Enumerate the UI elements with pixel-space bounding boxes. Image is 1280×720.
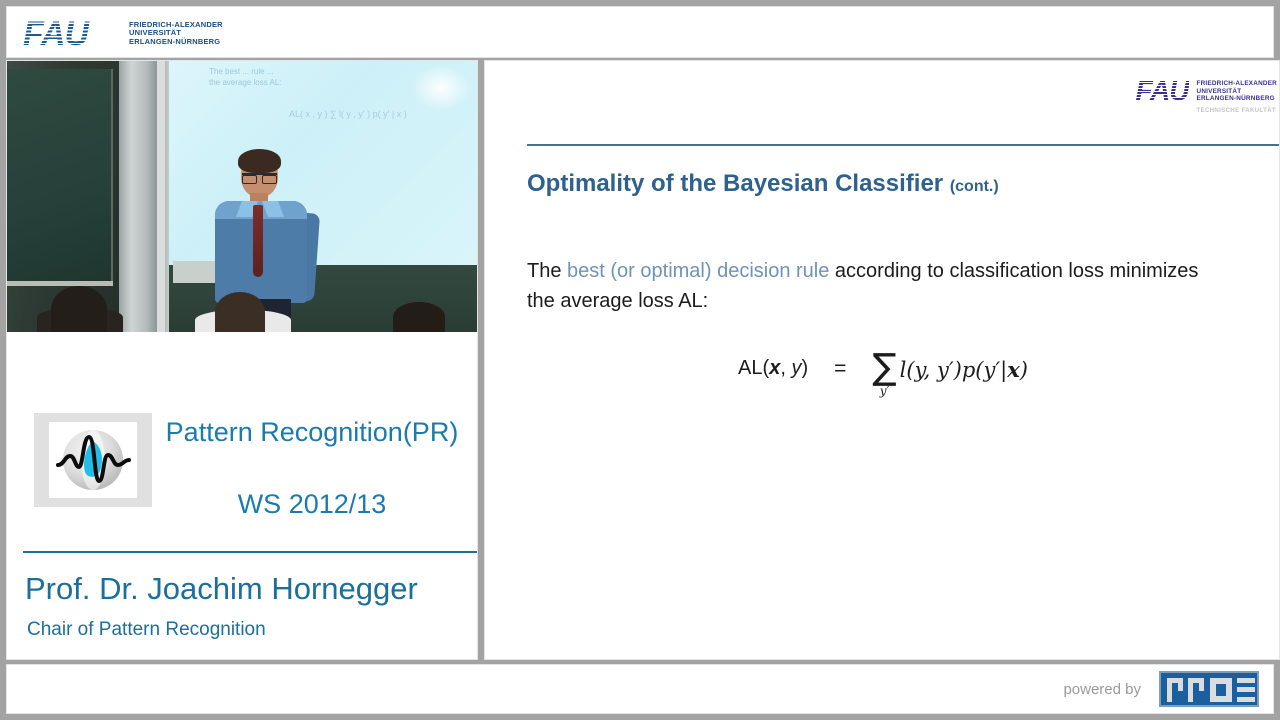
fau-slide-faculty: TECHNISCHE FAKULTÄT [1197, 107, 1278, 116]
audience-head-2 [215, 292, 265, 332]
slide-formula: AL(x, y) = ∑ y′ l(y, y′)p(y′|x) [485, 351, 1280, 398]
video-projected-line-1: The best ... rule ... [209, 66, 282, 77]
slide-body-line-2: the average loss AL: [527, 286, 1280, 316]
powered-by-label: powered by [1063, 681, 1141, 698]
audience-head-1 [51, 286, 107, 332]
video-screen-glare [411, 65, 471, 111]
fau-logo-mark: FAU [23, 17, 119, 51]
formula-rhs-open-1: ( [906, 358, 914, 382]
formula-sum-index: y′ [880, 385, 890, 398]
footer-bar: powered by [6, 664, 1274, 714]
fau-brand-slide: FAU FRIEDRICH-ALEXANDER UNIVERSITÄT ERLA… [1136, 77, 1278, 116]
formula-right-hand-side: l(y, y′)p(y′|x) [900, 351, 1028, 382]
slide-title: Optimality of the Bayesian Classifier (c… [527, 169, 999, 202]
formula-equals: = [834, 351, 846, 381]
video-projected-text: The best ... rule ... the average loss A… [209, 66, 282, 88]
pr-logo-frame [49, 422, 137, 498]
fau-slide-line-1: FRIEDRICH-ALEXANDER [1197, 80, 1278, 88]
formula-arg-comma: , [780, 357, 791, 379]
formula-summation: ∑ y′ [872, 351, 896, 398]
formula-rhs-x: x [1007, 357, 1020, 382]
video-door-frame [157, 61, 165, 332]
fau-slide-line-3: ERLANGEN-NÜRNBERG [1197, 95, 1278, 103]
fau-wordmark-lines-slide: FRIEDRICH-ALEXANDER UNIVERSITÄT ERLANGEN… [1197, 80, 1278, 116]
left-panel: The best ... rule ... the average loss A… [6, 60, 478, 660]
lecture-video[interactable]: The best ... rule ... the average loss A… [7, 61, 477, 332]
formula-paren-close: ) [801, 357, 808, 379]
slide-header-rule [527, 144, 1280, 146]
course-info-block: Pattern Recognition(PR) WS 2012/13 Prof.… [7, 333, 477, 659]
slide-panel[interactable]: FAU FRIEDRICH-ALEXANDER UNIVERSITÄT ERLA… [484, 60, 1280, 660]
video-chalk-rail [7, 281, 113, 286]
lecturer-hair [238, 149, 281, 173]
formula-rhs-y-prime-2: y′ [984, 358, 1001, 382]
rrze-logo-icon[interactable] [1159, 671, 1259, 707]
lecturer-glasses [242, 173, 277, 182]
slide-body-post: according to classification loss minimiz… [829, 260, 1198, 282]
formula-rhs-y: y [915, 358, 924, 382]
fau-brand-header: FAU FRIEDRICH-ALEXANDER UNIVERSITÄT ERLA… [23, 17, 223, 51]
formula-rhs-close-1: ) [954, 358, 962, 382]
pr-logo-icon [52, 425, 134, 495]
formula-rhs-y-prime: y′ [937, 358, 954, 382]
course-title: Pattern Recognition(PR) [147, 416, 477, 448]
slide-title-main: Optimality of the Bayesian Classifier [527, 170, 943, 197]
video-projected-line-2: the average loss AL: [209, 77, 282, 88]
formula-rhs-open-2: ( [975, 358, 983, 382]
slide-body-text: The best (or optimal) decision rule acco… [527, 256, 1280, 316]
pattern-recognition-logo [34, 413, 152, 507]
formula-rhs-comma: , [924, 358, 937, 382]
formula-arg-y: y [791, 357, 801, 379]
top-header-bar: FAU FRIEDRICH-ALEXANDER UNIVERSITÄT ERLA… [6, 6, 1274, 58]
audience-head-3 [393, 302, 445, 332]
divider-top [23, 551, 478, 553]
formula-arg-x: x [769, 357, 780, 379]
lecture-player-window: FAU FRIEDRICH-ALEXANDER UNIVERSITÄT ERLA… [0, 0, 1280, 720]
formula-rhs-close-2: ) [1020, 358, 1028, 382]
fau-logo-icon-slide: FAU [1136, 77, 1189, 105]
lecturer-name: Prof. Dr. Joachim Hornegger [25, 571, 418, 607]
slide-body-pre: The [527, 260, 567, 282]
course-term: WS 2012/13 [147, 488, 477, 520]
formula-left-hand-side: AL(x, y) [738, 351, 808, 380]
lecturer-chair: Chair of Pattern Recognition [27, 618, 266, 642]
fau-wordmark-lines: FRIEDRICH-ALEXANDER UNIVERSITÄT ERLANGEN… [129, 21, 223, 46]
slide-title-continuation: (cont.) [950, 178, 999, 195]
video-chalkboard [7, 69, 113, 281]
video-projected-formula: AL( x , y ) ∑ l( y , y' ) p( y' | x ) [289, 109, 407, 119]
slide-body-highlight: best (or optimal) decision rule [567, 260, 829, 282]
sum-symbol-icon: ∑ [872, 351, 896, 385]
fau-logo-icon: FAU [23, 17, 119, 51]
formula-al-name: AL [738, 357, 762, 379]
lecturer-tie [253, 205, 263, 277]
formula-prob-p: p [962, 358, 975, 382]
fau-line-3: ERLANGEN-NÜRNBERG [129, 38, 223, 46]
